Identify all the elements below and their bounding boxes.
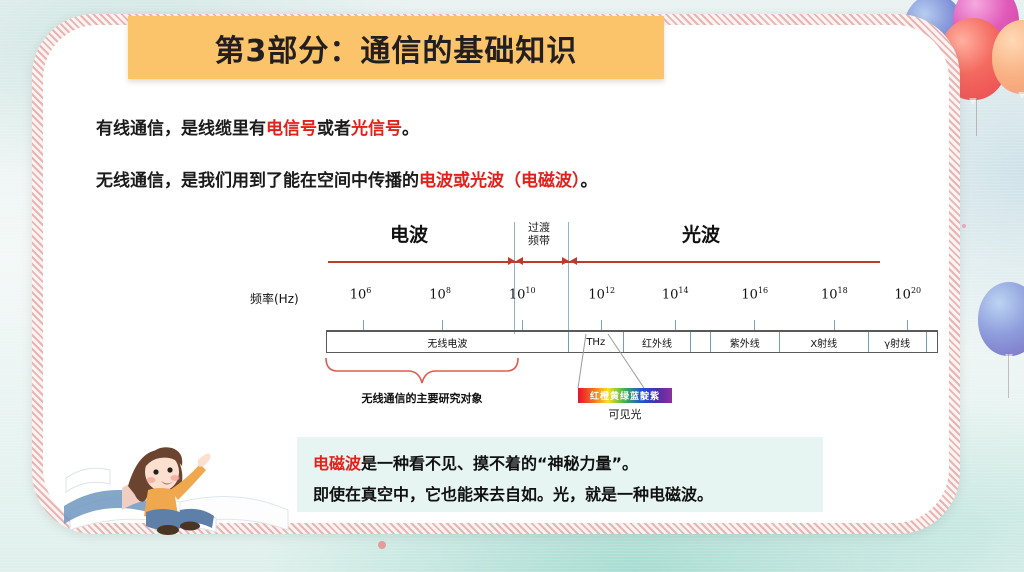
- paragraph-wired-pre: 有线通信，是线缆里有: [96, 119, 266, 139]
- paragraph-wired-highlight-1: 电信号: [266, 119, 317, 139]
- research-scope-caption: 无线通信的主要研究对象: [322, 390, 522, 406]
- axis-tick-label: 1010: [509, 286, 536, 302]
- axis-tick-label: 1020: [894, 286, 921, 302]
- balloon-string-4: [1008, 352, 1009, 398]
- axis-tick: [754, 320, 755, 330]
- arrow-left-a: [508, 257, 515, 265]
- transition-boundary-left: [514, 222, 515, 334]
- visible-light-leader-lines: [550, 332, 680, 390]
- callout-highlight: 电磁波: [313, 454, 361, 473]
- paragraph-wireless-post: 。: [581, 171, 598, 191]
- axis-tick-label: 1016: [741, 286, 768, 302]
- band-cell: 无线电波: [327, 332, 569, 352]
- axis-tick: [834, 320, 835, 330]
- axis-tick-label: 1012: [588, 286, 615, 302]
- band-cell: X射线: [780, 332, 869, 352]
- visible-light-color-names: 红橙黄绿蓝靛紫: [590, 389, 660, 402]
- axis-tick: [675, 320, 676, 330]
- title-banner: 第3部分：通信的基础知识: [128, 16, 664, 79]
- band-cell: [691, 332, 711, 352]
- arrow-right-a: [516, 257, 523, 265]
- paragraph-wireless: 无线通信，是我们用到了能在空间中传播的电波或光波（电磁波）。: [96, 166, 598, 191]
- paragraph-wired: 有线通信，是线缆里有电信号或者光信号。: [96, 114, 419, 139]
- page-title: 第3部分：通信的基础知识: [215, 26, 578, 70]
- paragraph-wireless-highlight-1: 电波或光波（电磁波）: [419, 171, 581, 191]
- region-title-transition-line1: 过渡: [512, 221, 566, 234]
- axis-tick: [907, 320, 908, 330]
- confetti-dot: [962, 224, 966, 228]
- research-scope-brace: [322, 356, 522, 386]
- axis-tick: [442, 320, 443, 330]
- axis-tick: [601, 320, 602, 330]
- spectrum-diagram: 电波 光波 过渡 频带 频率(Hz) 106108101010121014101…: [250, 214, 890, 424]
- axis-tick: [522, 320, 523, 330]
- decorative-dot: [378, 541, 386, 549]
- axis-tick-label: 1014: [662, 286, 689, 302]
- region-title-light: 光波: [682, 220, 720, 247]
- paragraph-wired-highlight-2: 光信号: [351, 119, 402, 139]
- callout-line-1: 电磁波是一种看不见、摸不着的“神秘力量”。: [313, 450, 638, 474]
- axis-tick-label: 108: [429, 286, 451, 302]
- band-cell: 紫外线: [711, 332, 780, 352]
- arrow-right-b: [570, 257, 577, 265]
- callout-line-2: 即使在真空中，它也能来去自如。光，就是一种电磁波。: [313, 481, 713, 505]
- region-title-radio: 电波: [390, 220, 428, 247]
- spectrum-red-line: [328, 261, 880, 263]
- axis-tick-label: 106: [350, 286, 372, 302]
- band-cell: [927, 332, 939, 352]
- transition-boundary-right: [568, 222, 569, 334]
- region-title-transition-line2: 频带: [512, 234, 566, 247]
- frequency-axis-label: 频率(Hz): [250, 290, 299, 307]
- region-title-transition: 过渡 频带: [512, 221, 566, 247]
- arrow-left-b: [562, 257, 569, 265]
- balloon-string-2: [976, 96, 977, 136]
- paragraph-wired-mid: 或者: [317, 119, 351, 139]
- visible-light-caption: 可见光: [578, 406, 672, 422]
- band-cell: γ射线: [869, 332, 927, 352]
- callout-line-1-rest: 是一种看不见、摸不着的“神秘力量”。: [361, 454, 638, 473]
- axis-tick-label: 1018: [821, 286, 848, 302]
- axis-tick: [363, 320, 364, 330]
- paragraph-wired-post: 。: [402, 119, 419, 139]
- paragraph-wireless-pre: 无线通信，是我们用到了能在空间中传播的: [96, 171, 419, 191]
- visible-light-spectrum-strip: 红橙黄绿蓝靛紫: [578, 388, 672, 403]
- emphasis-callout-box: 电磁波是一种看不见、摸不着的“神秘力量”。 即使在真空中，它也能来去自如。光，就…: [297, 437, 823, 512]
- slide: 第3部分：通信的基础知识 有线通信，是线缆里有电信号或者光信号。 无线通信，是我…: [0, 0, 1024, 572]
